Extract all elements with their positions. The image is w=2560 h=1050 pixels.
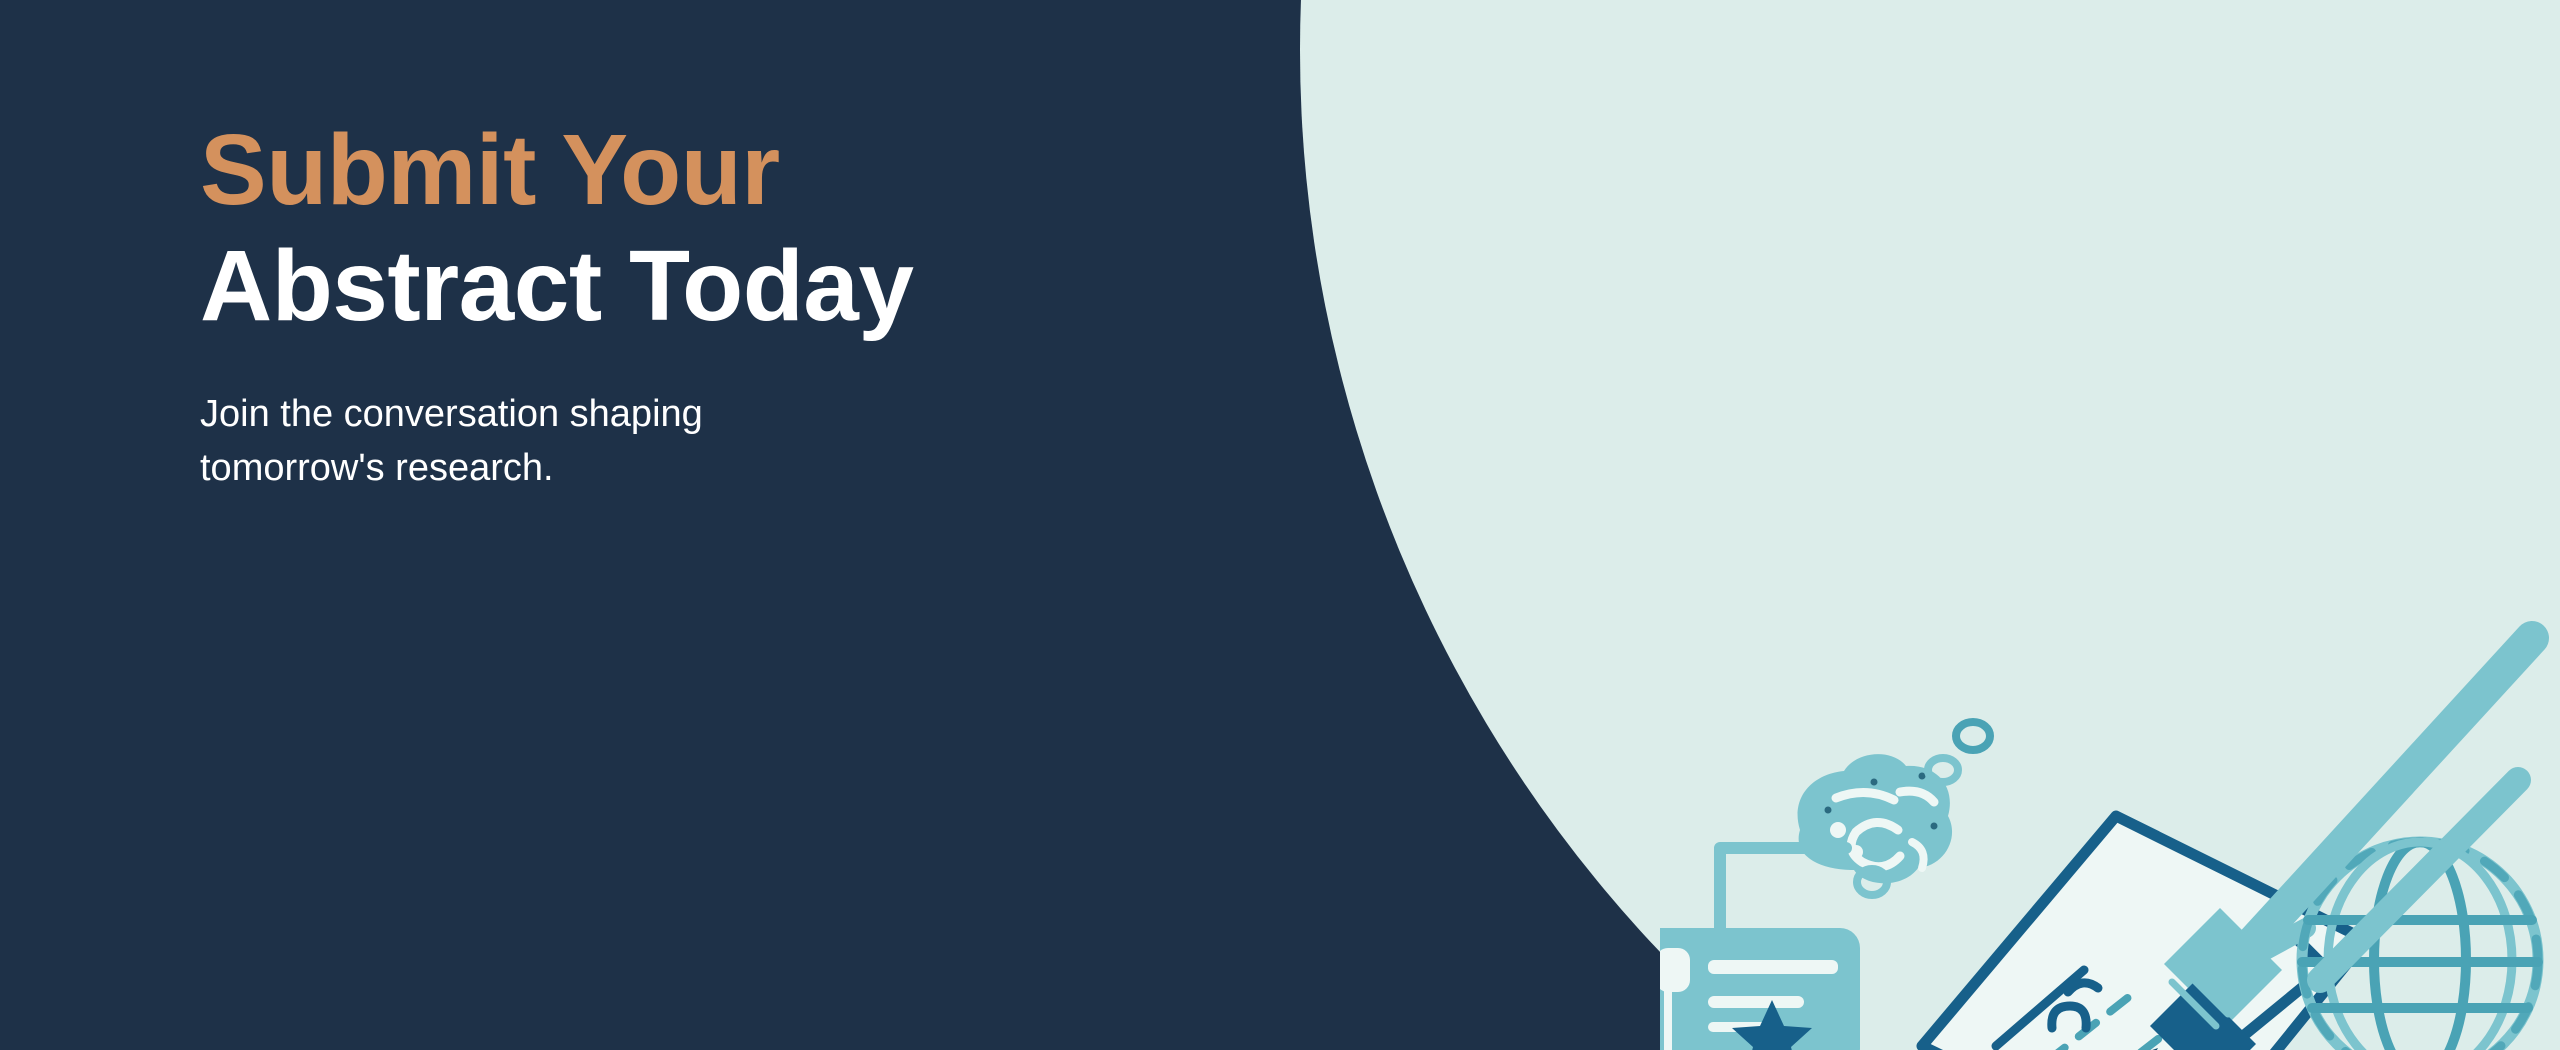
headline-line-1: Submit Your bbox=[200, 112, 1300, 228]
headline-line-2: Abstract Today bbox=[200, 228, 1300, 344]
subtitle-text: Join the conversation shaping tomorrow's… bbox=[200, 388, 820, 496]
promo-banner: Submit Your Abstract Today Join the conv… bbox=[0, 0, 2560, 1050]
headline-text-block: Submit Your Abstract Today Join the conv… bbox=[200, 112, 1300, 496]
mint-circle-panel bbox=[1300, 0, 2560, 1050]
